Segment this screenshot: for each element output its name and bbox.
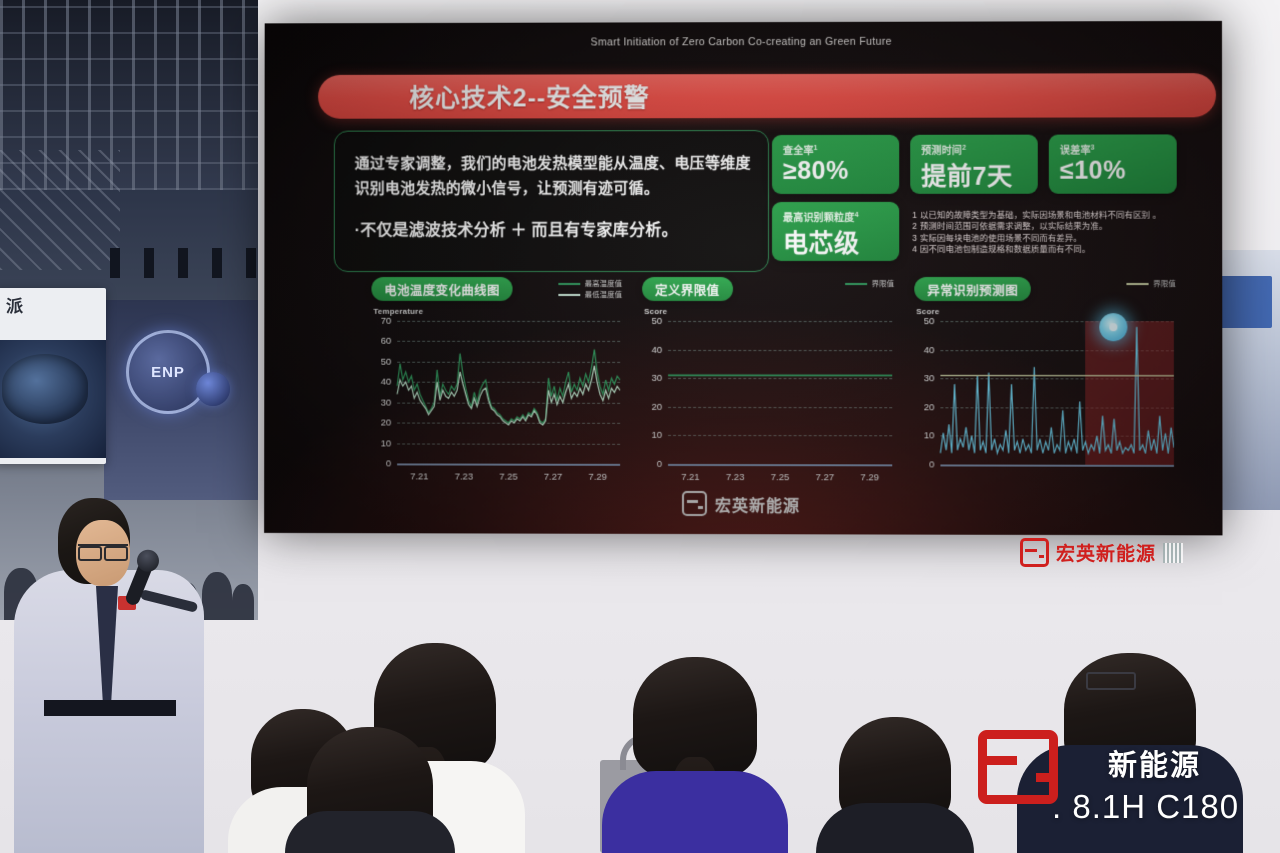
kpi-label: 误差率3 (1060, 142, 1095, 157)
booth-poster-logo: 派 (6, 292, 66, 326)
chart-series-svg (644, 321, 892, 466)
kpi-card-lead-time: 预测时间2 提前7天 (910, 135, 1038, 194)
chart-x-tick: 7.25 (499, 472, 517, 483)
kpi-card-granularity: 最高识别颗粒度4 电芯级 (772, 202, 899, 261)
wall-brand: 宏英新能源 (1020, 538, 1183, 567)
s-logo-icon (978, 730, 1058, 804)
exhibition-photo-scene: ENP 派 Smart Initiation of Zero Carbon Co… (0, 0, 1280, 853)
presenter-belt (44, 700, 176, 716)
chart-x-tick: 7.25 (771, 472, 790, 483)
chart-title: 异常识别预测图 (914, 277, 1031, 301)
chart-series-svg (916, 321, 1174, 467)
kpi-card-error-rate: 误差率3 ≤10% (1049, 134, 1177, 193)
audience-member (620, 657, 770, 853)
s-logo-icon (682, 491, 707, 516)
projected-slide: Smart Initiation of Zero Carbon Co-creat… (264, 21, 1222, 535)
kpi-card-recall: 查全率1 ≥80% (772, 135, 899, 194)
signage-booth-code: . 8.1H C180 (1052, 788, 1239, 826)
description-bullet: ·不仅是滤波技术分析 ＋ 而且有专家库分析。 (355, 219, 757, 243)
chart-legend: 界限值 (845, 278, 895, 289)
kpi-label: 预测时间2 (921, 142, 966, 157)
wall-brand-name: 宏英新能源 (1056, 539, 1156, 566)
chart-series-svg (373, 321, 620, 466)
s-logo-icon (1020, 538, 1049, 567)
slide-brand-name: 宏英新能源 (715, 492, 800, 516)
chart-title: 电池温度变化曲线图 (371, 277, 512, 301)
booth-logo-enp: ENP (126, 330, 210, 414)
kpi-value: 电芯级 (783, 224, 860, 260)
chart-x-axis (668, 464, 892, 466)
description-box: 通过专家调整，我们的电池发热模型能从温度、电压等维度识别电池发热的微小信号，让预… (334, 130, 769, 272)
audience-glasses (1086, 672, 1136, 690)
slide-title-banner: 核心技术2--安全预警 (318, 73, 1216, 119)
chart-x-tick: 7.21 (410, 471, 428, 482)
chart-anomaly-prediction: 异常识别预测图 界限值 Score 01020304050 (906, 277, 1178, 493)
audience-member (300, 723, 440, 853)
chart-threshold-definition: 定义界限值 界限值 Score 010203040507.217.237.257… (634, 277, 896, 492)
audience-member (830, 713, 960, 853)
chart-alert-marker (1099, 313, 1127, 341)
kpi-value: ≥80% (783, 157, 849, 186)
chart-title: 定义界限值 (642, 277, 732, 301)
ceiling-truss-secondary (0, 150, 120, 270)
chart-x-axis (940, 464, 1174, 466)
chart-x-tick: 7.23 (726, 472, 745, 483)
signage-brand-text: 新能源 (1108, 742, 1201, 784)
chart-x-tick: 7.23 (455, 472, 473, 483)
slide-tagline: Smart Initiation of Zero Carbon Co-creat… (265, 35, 1222, 49)
chart-x-axis (397, 463, 620, 465)
chart-x-tick: 7.29 (589, 472, 607, 483)
chart-x-tick: 7.27 (816, 472, 835, 483)
footnotes: 1以已知的故障类型为基础，实际因场景和电池材料不同有区别 。 2预测时间范围可依… (912, 210, 1182, 256)
kpi-value: ≤10% (1060, 157, 1126, 186)
chart-x-tick: 7.29 (861, 472, 880, 483)
chart-x-tick: 7.21 (681, 472, 699, 483)
qr-code-icon (1163, 543, 1183, 563)
kpi-label: 最高识别颗粒度4 (783, 209, 859, 224)
chart-plot-area: 010203040507.217.237.257.277.29 (644, 321, 892, 466)
kpi-value: 提前7天 (921, 157, 1012, 193)
footnote-item: 4因不同电池包制造规格和数据质量而有不同。 (912, 244, 1182, 256)
stage-lights (110, 248, 260, 278)
chart-battery-temperature: 电池温度变化曲线图 最高温度值 最低温度值 Temperature 010203… (363, 277, 624, 492)
booth-logo-dot (196, 372, 230, 406)
chart-legend: 最高温度值 最低温度值 (558, 278, 622, 300)
slide-brand: 宏英新能源 (682, 491, 800, 516)
chart-x-tick: 7.27 (544, 472, 562, 483)
chart-plot-area: 0102030405060707.217.237.257.277.29 (373, 321, 620, 466)
presenter-glasses (78, 544, 128, 557)
chart-plot-area: 01020304050 (916, 321, 1174, 467)
page-title: 核心技术2--安全预警 (409, 78, 649, 114)
footnote-item: 3实际因每块电池的使用场景不同而有差异。 (912, 233, 1182, 245)
description-paragraph: 通过专家调整，我们的电池发热模型能从温度、电压等维度识别电池发热的微小信号，让预… (355, 151, 757, 201)
footnote-item: 2预测时间范围可依据需求调整，以实际结果为准。 (912, 221, 1182, 233)
footnote-item: 1以已知的故障类型为基础，实际因场景和电池材料不同有区别 。 (912, 210, 1182, 222)
chart-legend: 界限值 (1126, 278, 1176, 289)
kpi-label: 查全率1 (783, 142, 818, 157)
